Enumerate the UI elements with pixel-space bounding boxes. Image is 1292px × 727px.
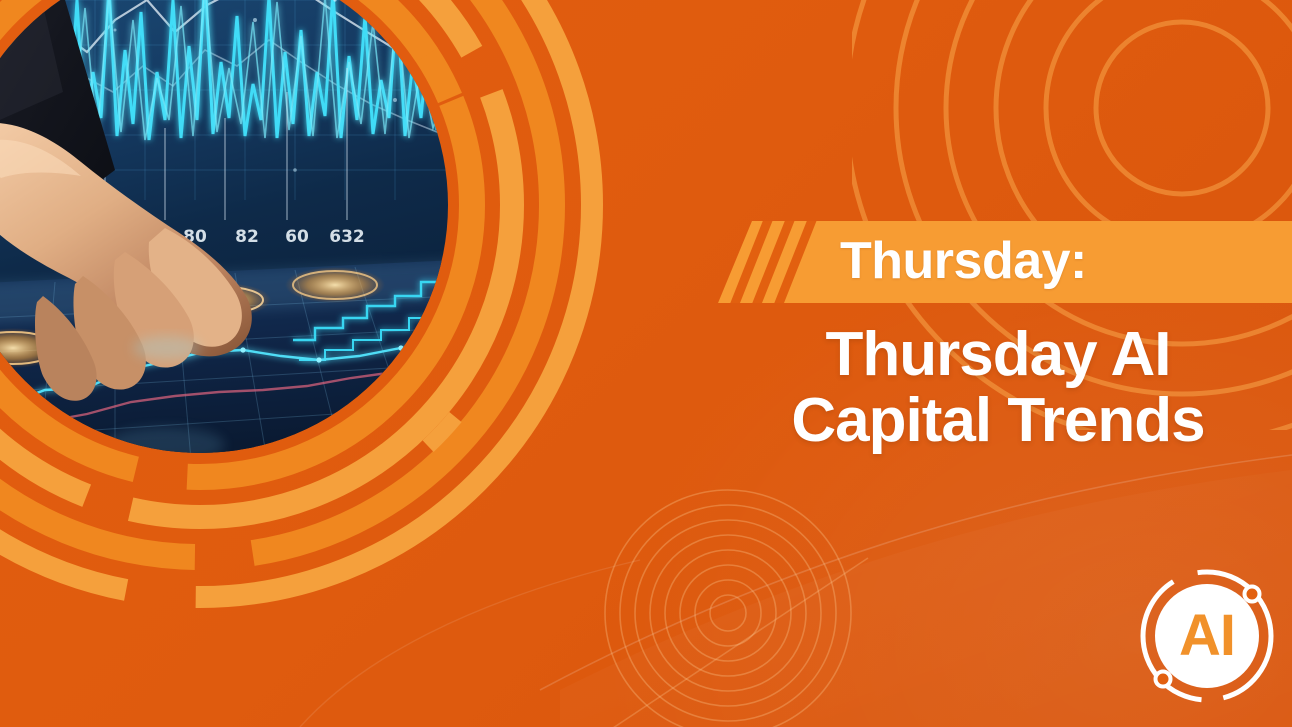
hero-circular-image: 1 31 59 80 82 60 632 [0,0,705,710]
eyebrow-label: Thursday: [840,235,1087,287]
ai-logo[interactable]: AI [1133,562,1281,710]
svg-text:82: 82 [235,227,259,247]
svg-text:632: 632 [329,227,365,247]
svg-text:60: 60 [285,227,309,247]
page-title: Thursday AI Capital Trends [718,322,1278,453]
title-line-1: Thursday AI [718,322,1278,388]
title-line-2: Capital Trends [718,388,1278,454]
eyebrow-banner: Thursday: [718,221,1292,303]
slide-canvas: 1 31 59 80 82 60 632 [0,0,1292,727]
